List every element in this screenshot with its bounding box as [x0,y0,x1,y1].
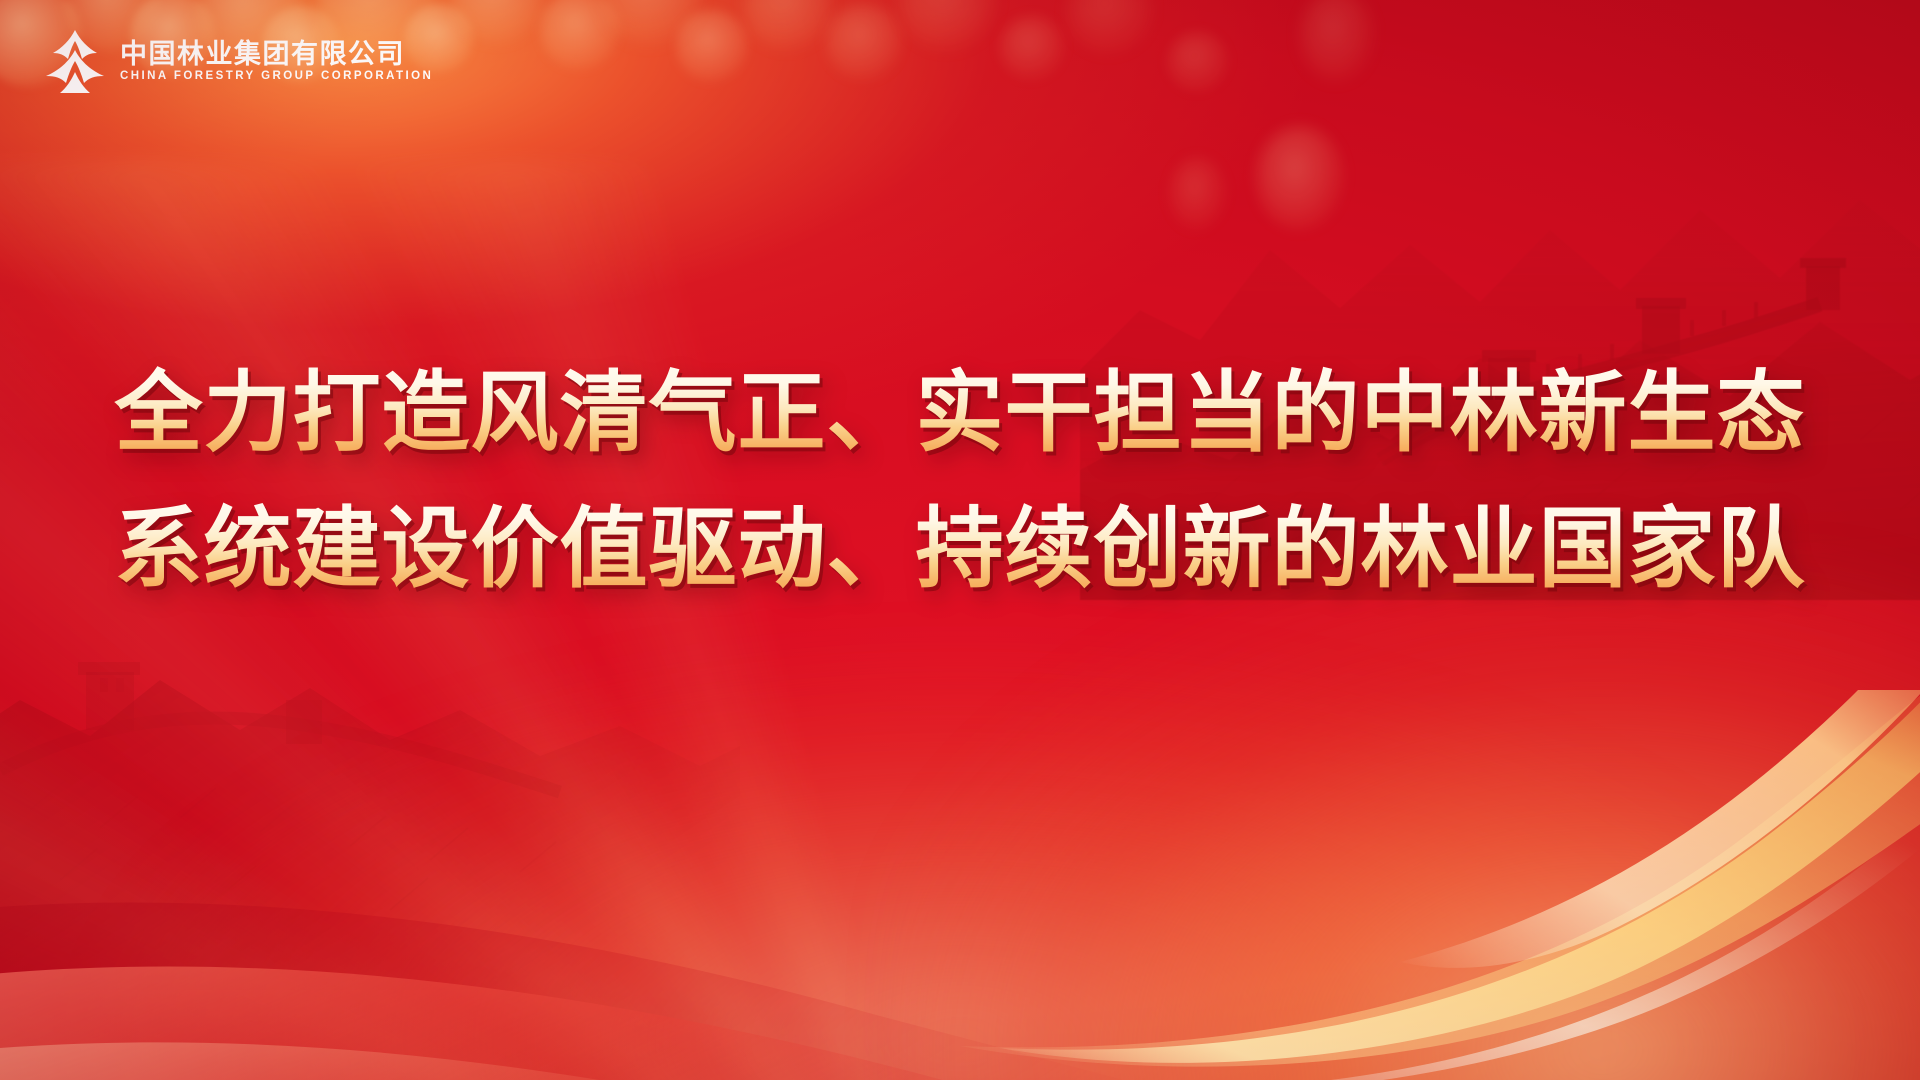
headline-line-1: 全力打造风清气正、实干担当的中林新生态 [46,352,1874,474]
brand-name-cn: 中国林业集团有限公司 [120,40,433,68]
banner-canvas: 中国林业集团有限公司 CHINA FORESTRY GROUP CORPORAT… [0,0,1920,1080]
pagoda-chevron-logo-icon [44,28,106,94]
headline-block: 全力打造风清气正、实干担当的中林新生态 系统建设价值驱动、持续创新的林业国家队 [0,352,1920,610]
gold-ribbon-bottom-right-decor [840,690,1920,1080]
headline-line-2: 系统建设价值驱动、持续创新的林业国家队 [46,488,1874,610]
brand-logo-lockup[interactable]: 中国林业集团有限公司 CHINA FORESTRY GROUP CORPORAT… [44,28,433,94]
brand-wordmark: 中国林业集团有限公司 CHINA FORESTRY GROUP CORPORAT… [120,40,433,83]
brand-name-en: CHINA FORESTRY GROUP CORPORATION [120,71,433,83]
